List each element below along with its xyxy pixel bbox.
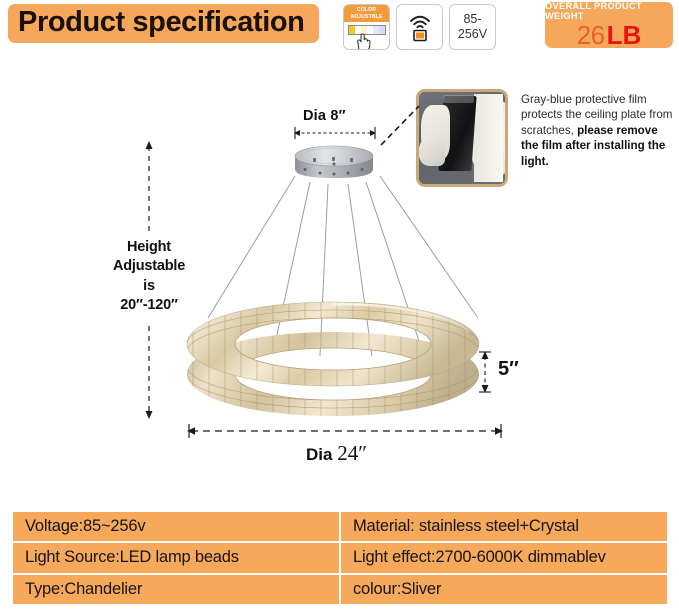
- badge-color-adjustable: COLOR ADJUSTBLE: [343, 4, 390, 50]
- voltage-line2: 256V: [458, 27, 487, 41]
- protective-film-note: Gray-blue protective film protects the c…: [521, 92, 673, 169]
- weight-value: 26 LB: [577, 22, 642, 48]
- weight-unit: LB: [607, 22, 642, 48]
- gloved-hand-lower: [419, 138, 445, 166]
- voltage-line1: 85-: [463, 12, 481, 26]
- ring-diameter-value: 24″: [337, 441, 367, 465]
- spec-cell-light-source: Light Source:LED lamp beads: [13, 543, 339, 572]
- product-specification-infographic: Product specification COLOR ADJUSTBLE: [0, 0, 679, 615]
- ring-diameter-prefix: Dia: [306, 445, 332, 464]
- spec-cell-type: Type:Chandelier: [13, 575, 339, 604]
- hand-cursor-icon: [348, 35, 386, 49]
- canopy-diameter-dimension-line: [292, 126, 378, 140]
- ring-diameter-label: Dia 24″: [306, 441, 367, 466]
- ring-thickness-dimension-line: [478, 350, 492, 394]
- weight-number: 26: [577, 22, 605, 48]
- ring-diameter-dimension-line: [186, 424, 504, 438]
- weight-label: OVERALL PRODUCT WEIGHT: [545, 2, 673, 20]
- remote-wifi-icon: [406, 12, 434, 42]
- canopy-diameter-label: Dia 8″: [303, 108, 346, 124]
- spec-cell-light-effect: Light effect:2700-6000K dimmablev: [341, 543, 667, 572]
- page-title: Product specification: [8, 4, 319, 43]
- badge-remote-control: [396, 4, 443, 50]
- badge-voltage: 85- 256V: [449, 4, 496, 50]
- color-adjustable-line1: COLOR: [357, 7, 376, 13]
- color-adjustable-label: COLOR ADJUSTBLE: [344, 5, 389, 22]
- weight-badge: OVERALL PRODUCT WEIGHT 26 LB: [545, 2, 673, 48]
- specification-table: Voltage:85~256v Material: stainless stee…: [13, 512, 667, 604]
- color-adjustable-line2: ADJUSTBLE: [350, 14, 382, 20]
- spec-cell-material: Material: stainless steel+Crystal: [341, 512, 667, 541]
- photo-highlight: [443, 95, 474, 103]
- feature-badge-row: COLOR ADJUSTBLE: [343, 4, 496, 50]
- leader-line-to-photo: [380, 104, 420, 146]
- crystal-ring-chandelier: [183, 296, 483, 426]
- spec-cell-voltage: Voltage:85~256v: [13, 512, 339, 541]
- spec-cell-colour: colour:Sliver: [341, 575, 667, 604]
- ring-thickness-label: 5″: [498, 358, 519, 381]
